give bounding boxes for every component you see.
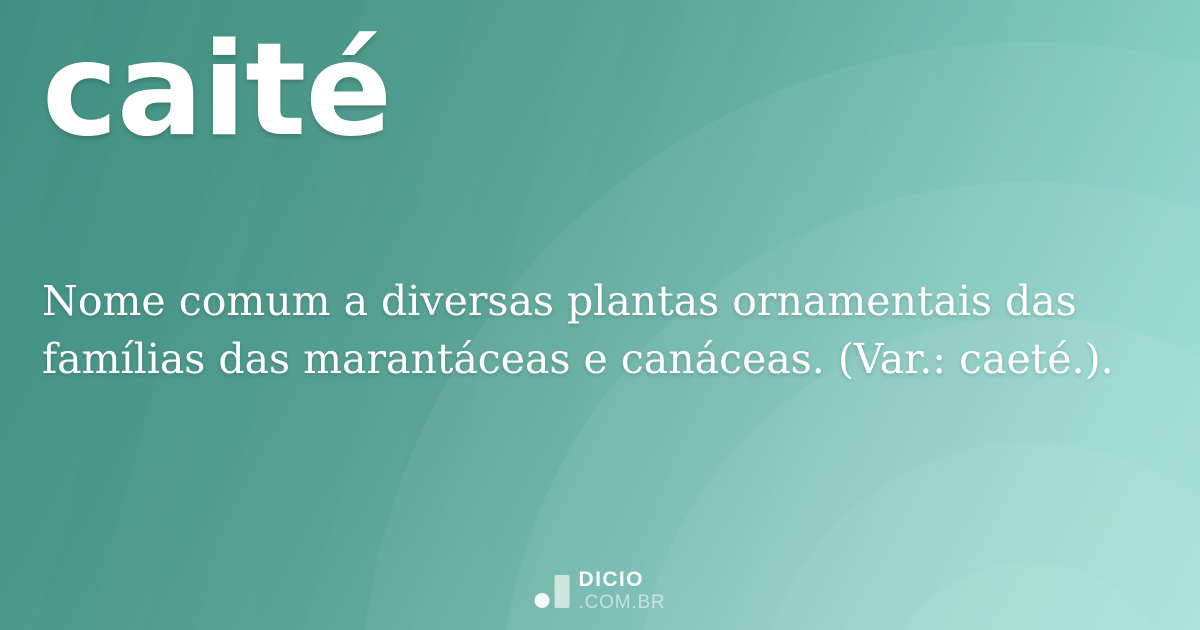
card-content: caité Nome comum a diversas plantas orna… [0,0,1200,630]
dicio-logo[interactable]: DICIO .COM.BR [535,569,666,612]
logo-wordmark: DICIO .COM.BR [579,569,666,612]
dictionary-share-card: caité Nome comum a diversas plantas orna… [0,0,1200,630]
logo-mark [535,574,570,608]
logo-tld: .COM.BR [579,593,666,612]
circle-mark-icon [535,593,550,608]
definition-text: Nome comum a diversas plantas ornamentai… [42,272,1147,388]
logo-name: DICIO [579,569,666,590]
headword-title: caité [42,24,391,158]
bar-mark-icon [555,575,570,608]
